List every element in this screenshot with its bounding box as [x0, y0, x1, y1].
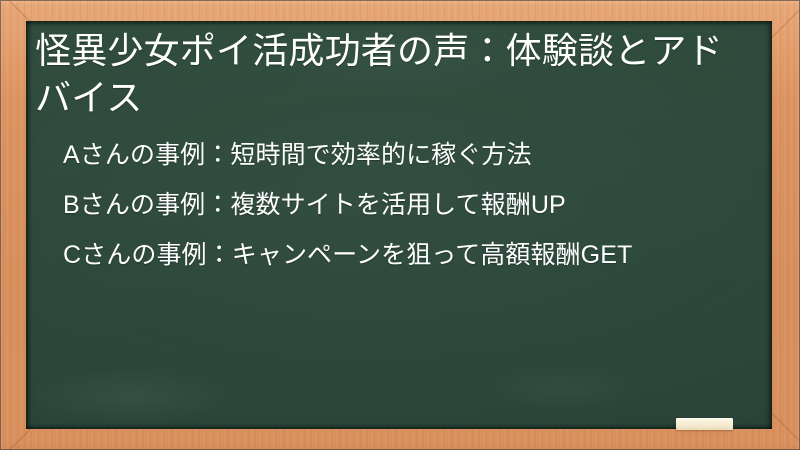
slide-title: 怪異少女ポイ活成功者の声：体験談とアドバイス — [35, 27, 756, 121]
blackboard-slide: 怪異少女ポイ活成功者の声：体験談とアドバイス Aさんの事例：短時間で効率的に稼ぐ… — [0, 0, 800, 450]
chalkboard-surface: 怪異少女ポイ活成功者の声：体験談とアドバイス Aさんの事例：短時間で効率的に稼ぐ… — [26, 21, 772, 429]
case-study-list: Aさんの事例：短時間で効率的に稼ぐ方法 Bさんの事例：複数サイトを活用して報酬U… — [35, 143, 756, 268]
case-item-b: Bさんの事例：複数サイトを活用して報酬UP — [63, 193, 756, 218]
case-item-c: Cさんの事例：キャンペーンを狙って高額報酬GET — [63, 243, 756, 268]
board-content: 怪異少女ポイ活成功者の声：体験談とアドバイス Aさんの事例：短時間で効率的に稼ぐ… — [26, 21, 772, 429]
chalk-stick-icon — [676, 418, 733, 430]
case-item-a: Aさんの事例：短時間で効率的に稼ぐ方法 — [63, 143, 756, 168]
